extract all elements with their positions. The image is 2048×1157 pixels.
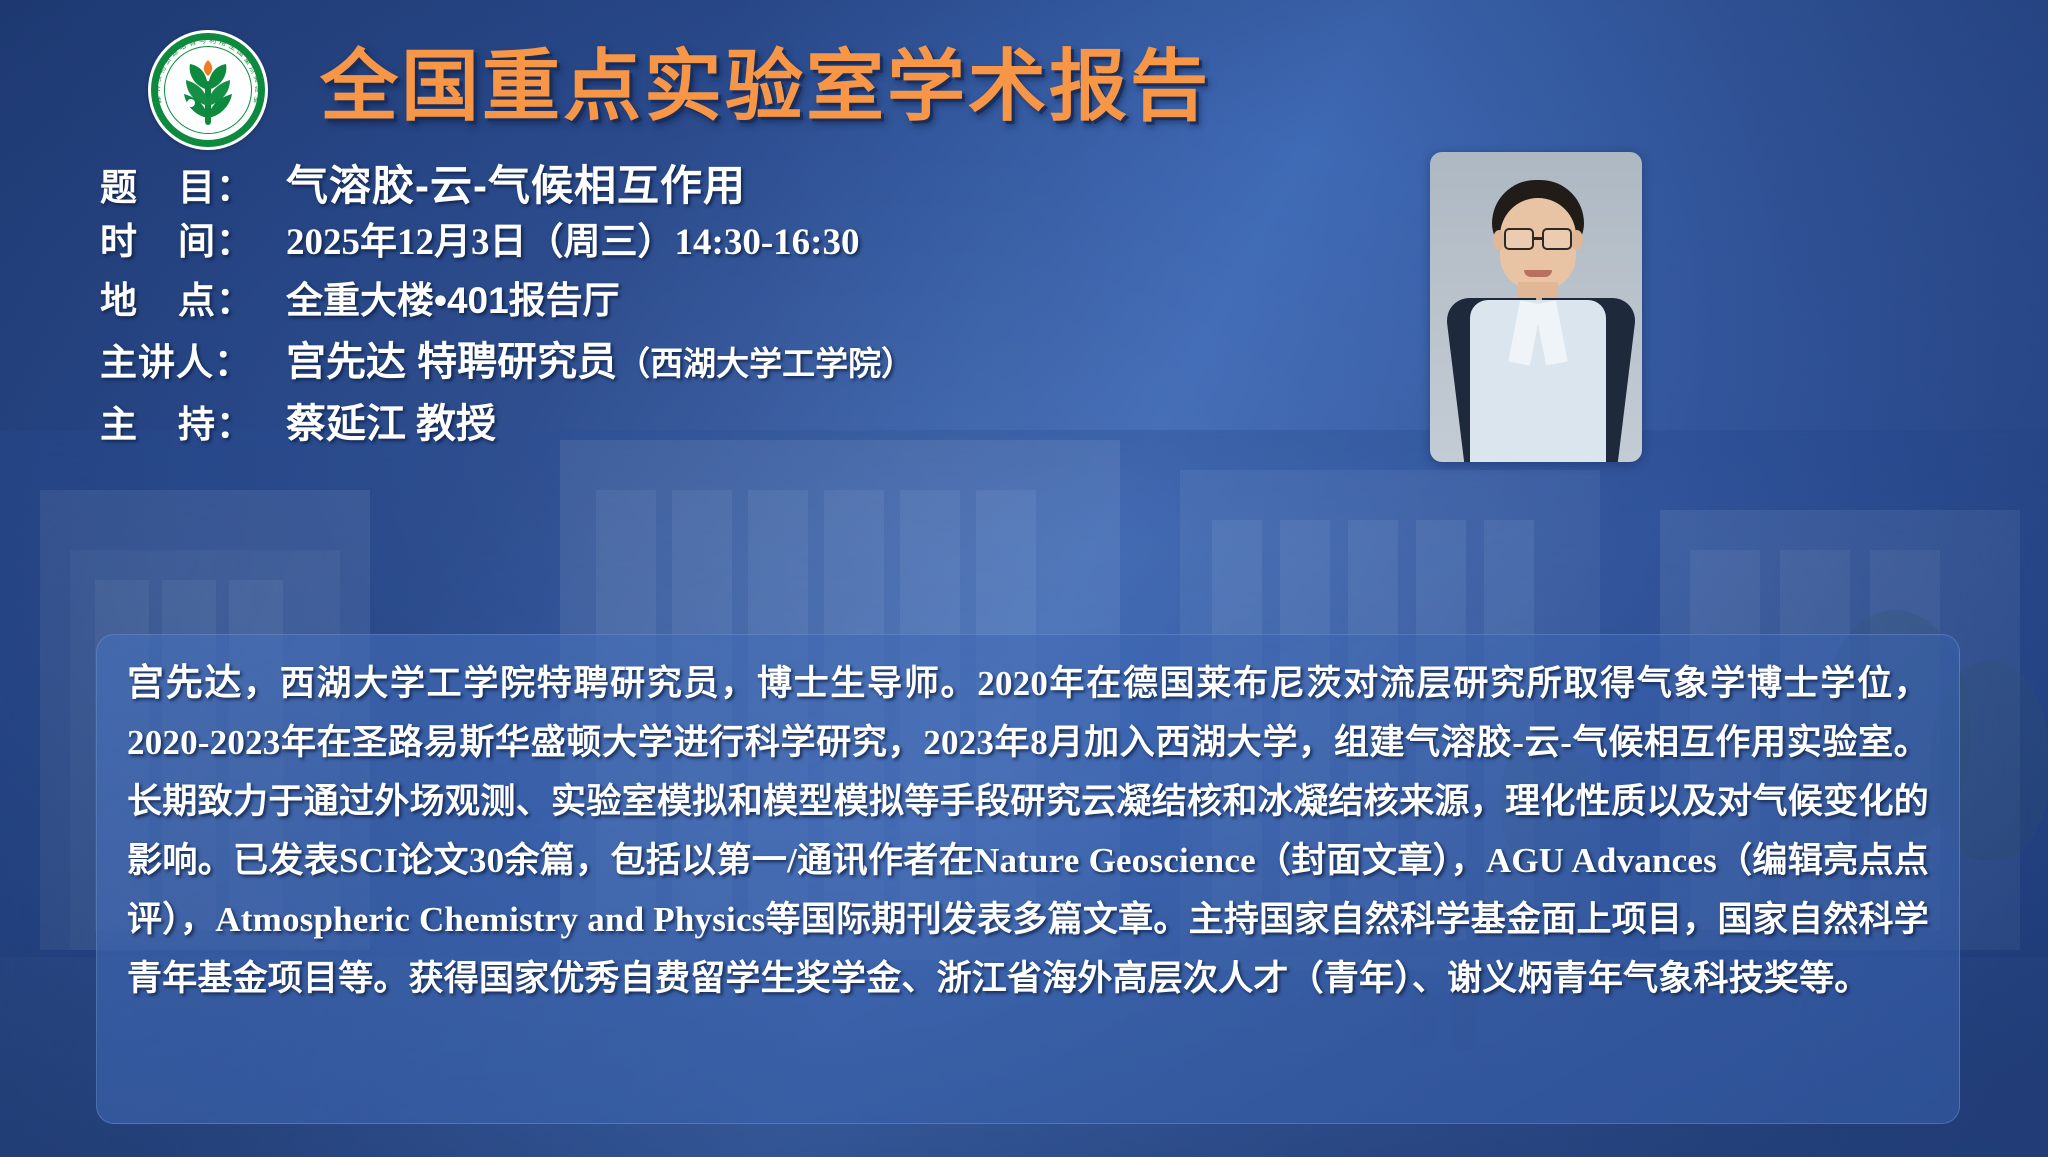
speaker-bio-box: 宫先达，西湖大学工学院特聘研究员，博士生导师。2020年在德国莱布尼茨对流层研究… — [96, 634, 1960, 1124]
info-row-topic: 题目： 气溶胶-云-气候相互作用 — [100, 152, 1120, 211]
info-row-place: 地点： 全重大楼•401报告厅 — [100, 270, 1120, 329]
info-label-time: 时间： — [100, 211, 286, 265]
info-label-place: 地点： — [100, 270, 286, 324]
info-value-topic: 气溶胶-云-气候相互作用 — [286, 152, 746, 213]
info-value-time: 2025年12月3日（周三）14:30-16:30 — [286, 211, 859, 265]
eyeglasses-icon — [1504, 228, 1534, 250]
info-row-speaker: 主讲人： 宫先达 特聘研究员 （西湖大学工学院） — [100, 329, 1120, 391]
info-row-host: 主持： 蔡延江 教授 — [100, 391, 1120, 450]
info-row-time: 时间： 2025年12月3日（周三）14:30-16:30 — [100, 211, 1120, 270]
state-key-lab-logo: 森林食物资源培育与利用全国重点实验室 — [148, 30, 268, 150]
bio-speaker-name: 宫先达 — [127, 662, 243, 703]
poster-title: 全国重点实验室学术报告 — [320, 26, 1640, 146]
info-label-speaker: 主讲人： — [100, 332, 286, 386]
info-value-speaker-affiliation: （西湖大学工学院） — [617, 337, 914, 385]
info-label-host: 主持： — [100, 394, 286, 448]
poster-root: 森林食物资源培育与利用全国重点实验室 全国重点实验室学术报告 题目： 气溶胶-云… — [0, 0, 2048, 1157]
info-value-place: 全重大楼•401报告厅 — [286, 270, 620, 324]
info-value-host: 蔡延江 教授 — [286, 391, 496, 449]
logo-arc-text: 森林食物资源培育与利用全国重点实验室 — [148, 30, 268, 150]
info-label-topic: 题目： — [100, 157, 286, 211]
speaker-portrait — [1430, 152, 1642, 462]
event-info-list: 题目： 气溶胶-云-气候相互作用 时间： 2025年12月3日（周三）14:30… — [100, 152, 1120, 450]
poster-header: 森林食物资源培育与利用全国重点实验室 全国重点实验室学术报告 — [0, 0, 2048, 170]
info-value-speaker-name: 宫先达 特聘研究员 — [286, 329, 617, 387]
speaker-bio-paragraph: 宫先达，西湖大学工学院特聘研究员，博士生导师。2020年在德国莱布尼茨对流层研究… — [127, 653, 1929, 1008]
bio-body-text: ，西湖大学工学院特聘研究员，博士生导师。2020年在德国莱布尼茨对流层研究所取得… — [127, 664, 1929, 998]
